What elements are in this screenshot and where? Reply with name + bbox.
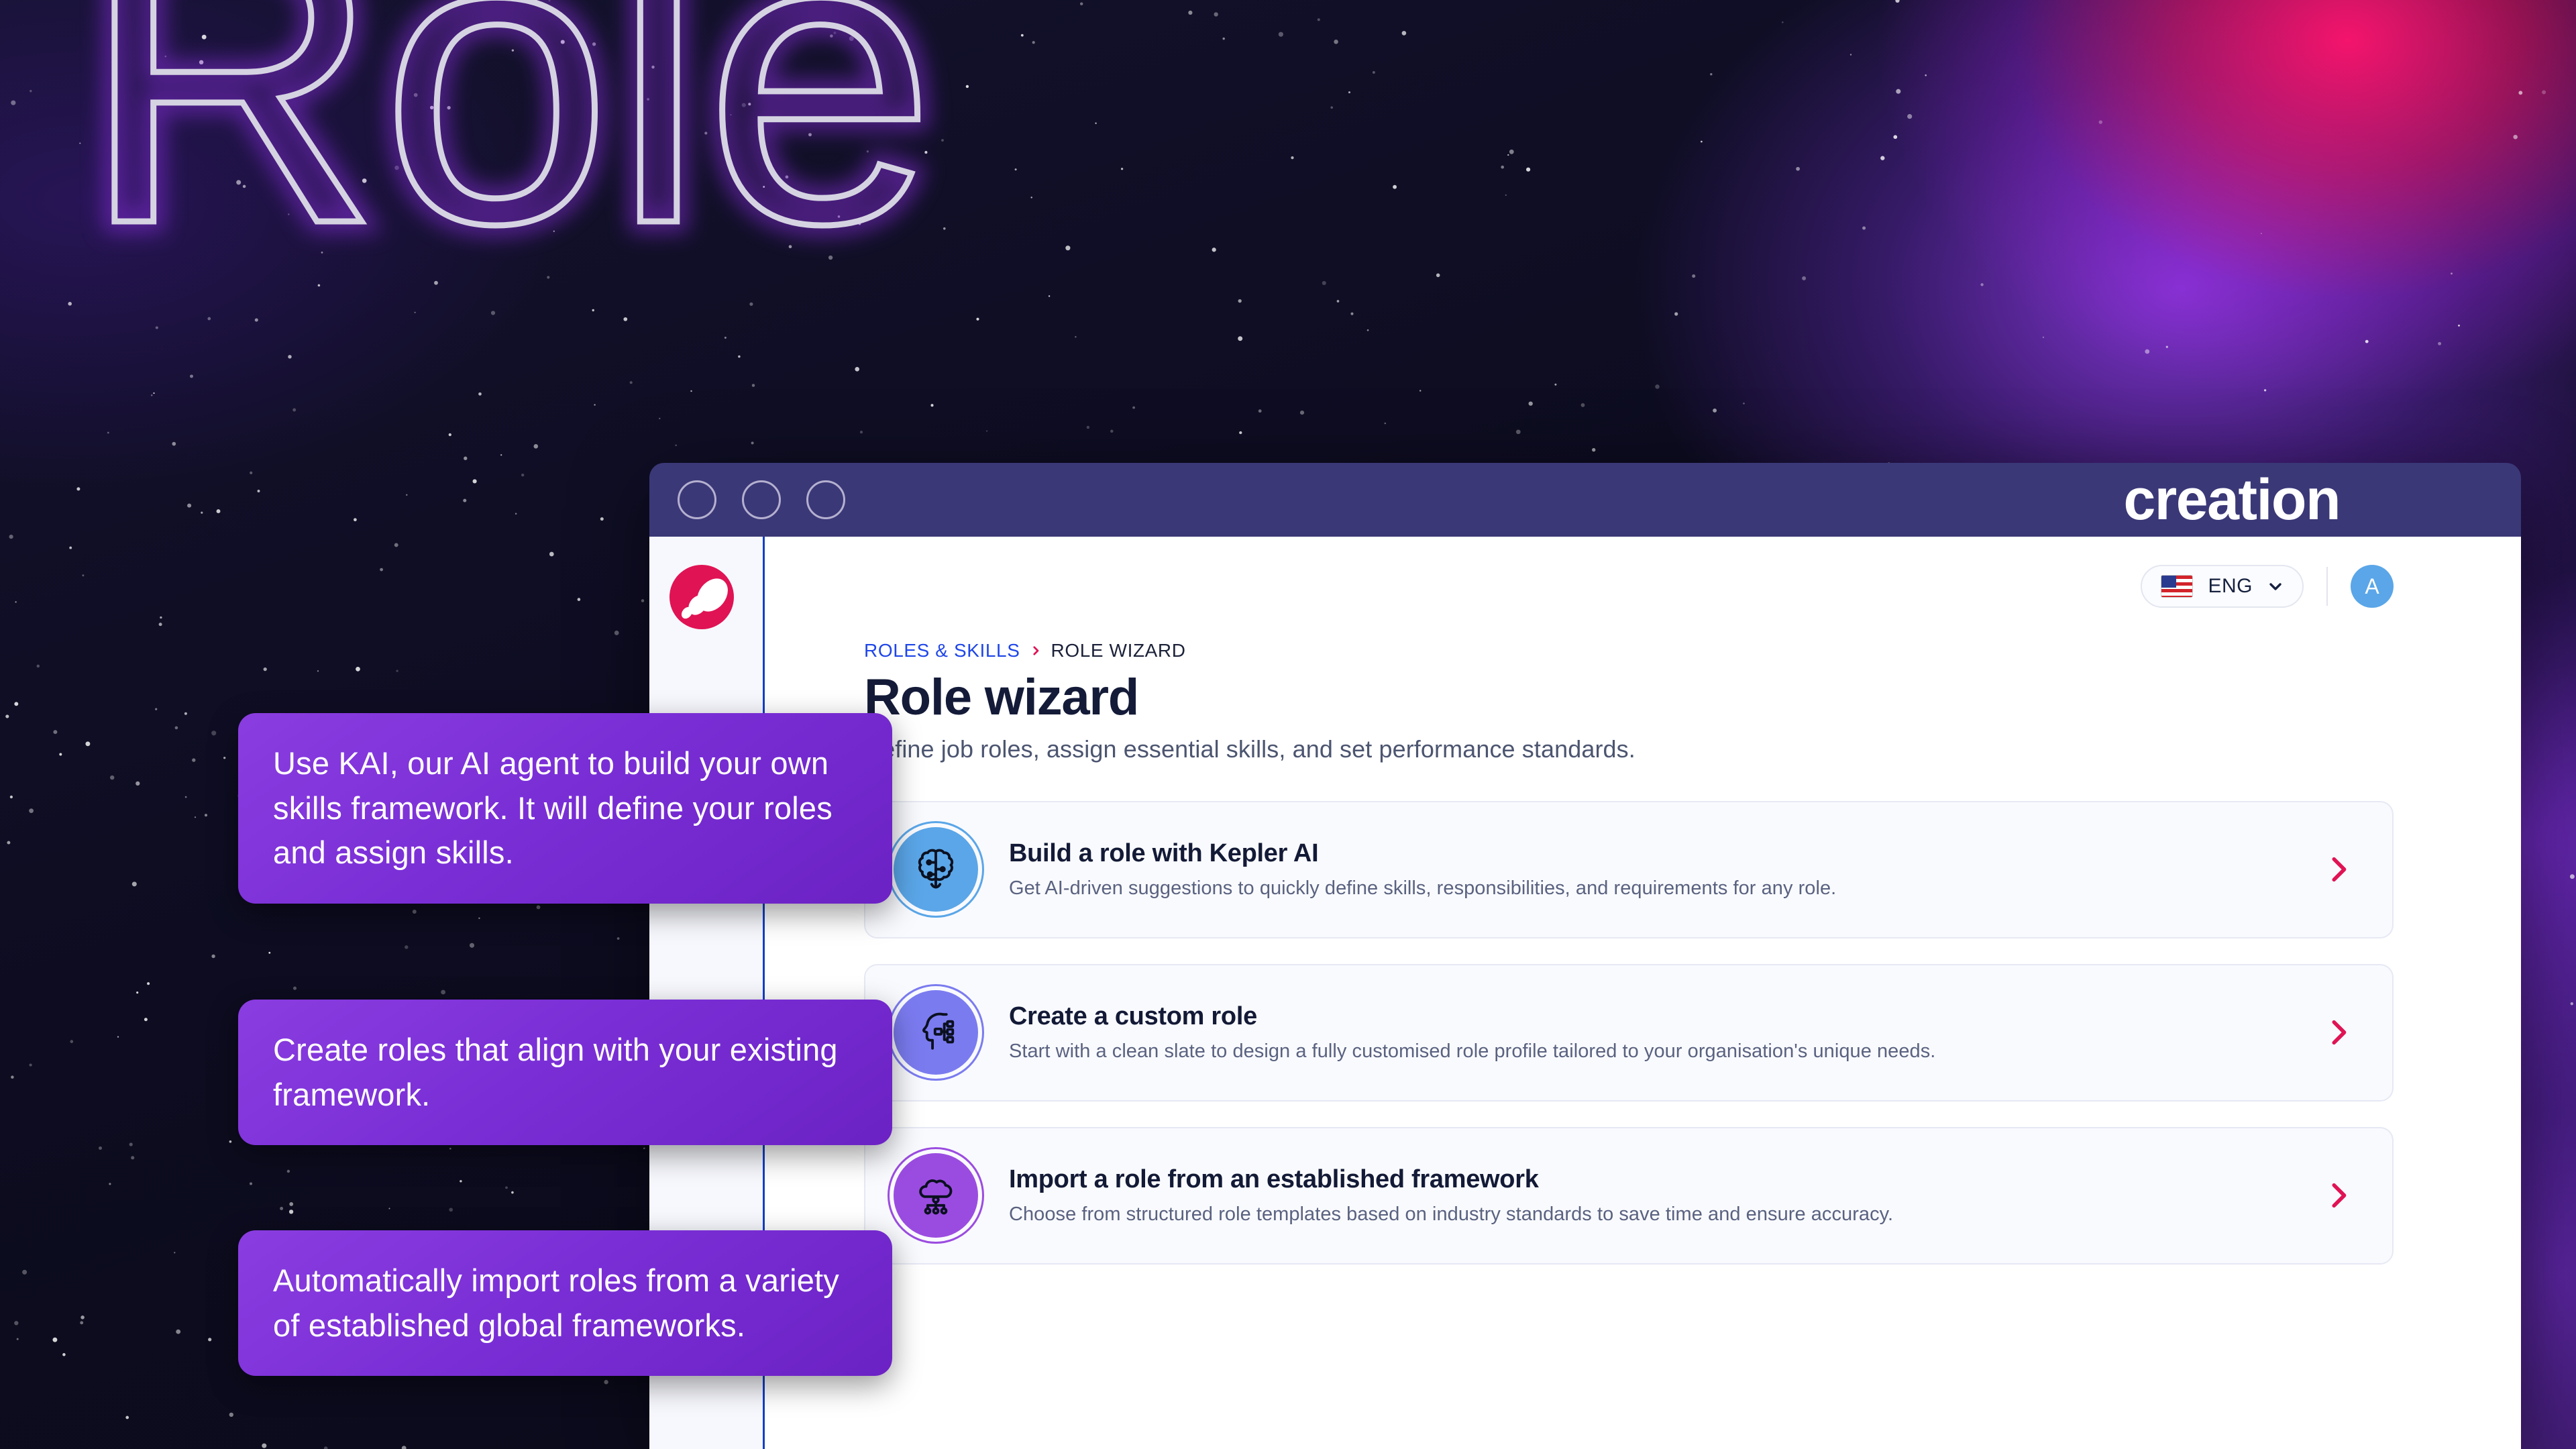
app-window: creation bbox=[649, 463, 2521, 1449]
callout-bubble-3: Automatically import roles from a variet… bbox=[238, 1230, 892, 1376]
page-title: Role wizard bbox=[864, 671, 2394, 724]
callout-text: Use KAI, our AI agent to build your own … bbox=[273, 745, 833, 870]
callout-text: Automatically import roles from a variet… bbox=[273, 1263, 839, 1343]
card-description: Start with a clean slate to design a ful… bbox=[1009, 1040, 2292, 1063]
main-content: ENG A ROLES & SKILLS ROLE WIZARD Role wi… bbox=[765, 537, 2521, 1449]
breadcrumb-current: ROLE WIZARD bbox=[1051, 640, 1186, 661]
window-dot-3[interactable] bbox=[806, 480, 845, 519]
card-description: Get AI-driven suggestions to quickly def… bbox=[1009, 877, 2292, 900]
card-create-custom-role[interactable]: Create a custom role Start with a clean … bbox=[864, 964, 2394, 1102]
chevron-right-icon[interactable] bbox=[2322, 1014, 2353, 1051]
icon-ring bbox=[888, 1147, 984, 1244]
card-build-with-kepler-ai[interactable]: Build a role with Kepler AI Get AI-drive… bbox=[864, 801, 2394, 938]
window-dot-1[interactable] bbox=[678, 480, 716, 519]
card-description: Choose from structured role templates ba… bbox=[1009, 1203, 2292, 1226]
chevron-right-icon[interactable] bbox=[2322, 851, 2353, 888]
card-title: Create a custom role bbox=[1009, 1002, 2292, 1031]
breadcrumb-root-link[interactable]: ROLES & SKILLS bbox=[864, 640, 1020, 661]
language-select[interactable]: ENG bbox=[2141, 565, 2304, 608]
window-titlebar: creation bbox=[649, 463, 2521, 537]
page-subtitle: Define job roles, assign essential skill… bbox=[864, 735, 2394, 763]
callout-bubble-1: Use KAI, our AI agent to build your own … bbox=[238, 713, 892, 904]
card-icon-wrap bbox=[894, 1153, 978, 1238]
card-text: Build a role with Kepler AI Get AI-drive… bbox=[1009, 839, 2292, 900]
callout-bubble-2: Create roles that align with your existi… bbox=[238, 1000, 892, 1145]
icon-ring bbox=[888, 821, 984, 918]
callout-text: Create roles that align with your existi… bbox=[273, 1032, 838, 1112]
chevron-right-icon bbox=[1030, 642, 1042, 659]
icon-ring bbox=[888, 984, 984, 1081]
app-body: ENG A ROLES & SKILLS ROLE WIZARD Role wi… bbox=[649, 537, 2521, 1449]
breadcrumb: ROLES & SKILLS ROLE WIZARD bbox=[864, 640, 2394, 661]
flag-canton bbox=[2161, 576, 2176, 588]
kepler-logo[interactable] bbox=[669, 565, 734, 629]
chevron-right-icon[interactable] bbox=[2322, 1177, 2353, 1214]
topbar: ENG A bbox=[864, 537, 2394, 608]
window-dot-2[interactable] bbox=[742, 480, 781, 519]
card-title: Build a role with Kepler AI bbox=[1009, 839, 2292, 868]
us-flag-icon bbox=[2161, 575, 2193, 598]
card-import-from-framework[interactable]: Import a role from an established framew… bbox=[864, 1127, 2394, 1265]
chevron-down-icon bbox=[2267, 578, 2284, 594]
role-option-cards: Build a role with Kepler AI Get AI-drive… bbox=[864, 801, 2394, 1265]
card-icon-wrap bbox=[894, 827, 978, 912]
language-label: ENG bbox=[2208, 575, 2253, 598]
card-title: Import a role from an established framew… bbox=[1009, 1165, 2292, 1194]
hero-solid-word: creation bbox=[2123, 471, 2340, 529]
card-text: Import a role from an established framew… bbox=[1009, 1165, 2292, 1226]
avatar-initial: A bbox=[2365, 574, 2379, 599]
topbar-divider bbox=[2326, 567, 2328, 606]
avatar[interactable]: A bbox=[2351, 565, 2394, 608]
card-icon-wrap bbox=[894, 990, 978, 1075]
card-text: Create a custom role Start with a clean … bbox=[1009, 1002, 2292, 1063]
